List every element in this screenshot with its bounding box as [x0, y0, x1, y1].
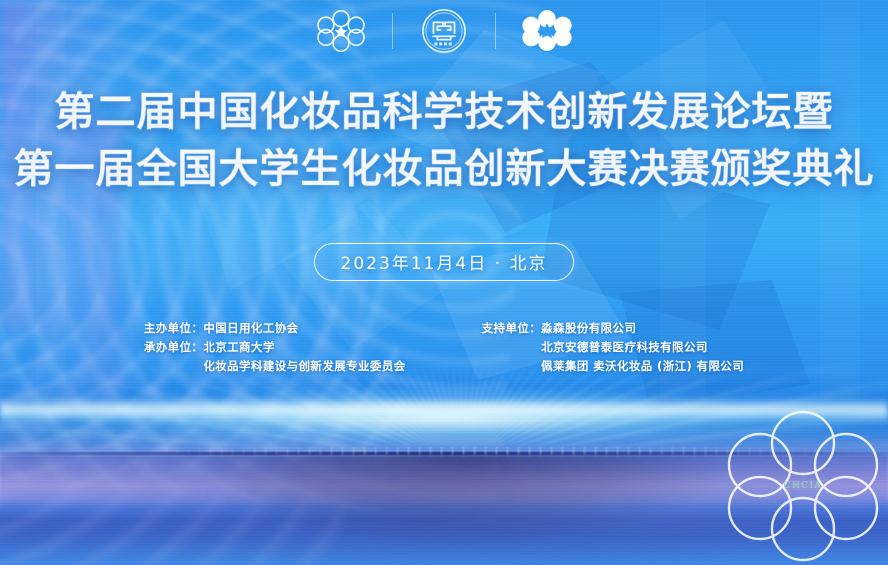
- chcia-watermark-label: CHCIA: [724, 481, 882, 491]
- logo-divider: [495, 13, 496, 49]
- event-title-line-2: 第一届全国大学生化妆品创新大赛决赛颁奖典礼: [0, 149, 888, 189]
- credit-value: 淼森股份有限公司: [541, 322, 636, 335]
- credit-value: 佩莱集团 卖沃化妆品 (浙江) 有限公司: [541, 360, 744, 373]
- credit-value: 北京工商大学: [203, 341, 274, 354]
- credit-label: 支持单位：: [482, 322, 542, 335]
- credit-row: 主办单位： 中国日用化工协会: [144, 322, 406, 335]
- chcia-watermark-icon: CHCIA: [724, 407, 882, 565]
- credit-label: 主办单位：: [144, 322, 204, 335]
- organizer-credits: 主办单位： 中国日用化工协会 承办单位： 北京工商大学 承办单位： 化妆品学科建…: [0, 322, 888, 374]
- chcia-flower-logo: [303, 7, 379, 55]
- organizer-credits-right: 支持单位： 淼森股份有限公司 支持单位： 北京安德普泰医疗科技有限公司 支持单位…: [482, 322, 745, 374]
- event-title-line-1: 第二届中国化妆品科学技术创新发展论坛暨: [0, 92, 888, 132]
- petal-solid-logo: [509, 7, 585, 55]
- logo-strip: [0, 6, 888, 56]
- organizer-credits-left: 主办单位： 中国日用化工协会 承办单位： 北京工商大学 承办单位： 化妆品学科建…: [144, 322, 406, 374]
- credit-label: 承办单位：: [144, 341, 204, 354]
- event-date-location-badge: 2023年11月4日 · 北京: [314, 243, 575, 281]
- credit-row: 承办单位： 化妆品学科建设与创新发展专业委员会: [144, 360, 406, 373]
- credit-row: 支持单位： 北京安德普泰医疗科技有限公司: [482, 341, 745, 354]
- credit-row: 支持单位： 佩莱集团 卖沃化妆品 (浙江) 有限公司: [482, 360, 745, 373]
- event-title: 第二届中国化妆品科学技术创新发展论坛暨 第一届全国大学生化妆品创新大赛决赛颁奖典…: [0, 92, 888, 189]
- btbu-seal-logo: [406, 7, 482, 55]
- credit-row: 支持单位： 淼森股份有限公司: [482, 322, 745, 335]
- event-banner-screen: 第二届中国化妆品科学技术创新发展论坛暨 第一届全国大学生化妆品创新大赛决赛颁奖典…: [0, 0, 888, 565]
- logo-divider: [392, 13, 393, 49]
- credit-row: 承办单位： 北京工商大学: [144, 341, 406, 354]
- credit-value: 北京安德普泰医疗科技有限公司: [541, 341, 708, 354]
- credit-value: 化妆品学科建设与创新发展专业委员会: [203, 360, 405, 373]
- credit-value: 中国日用化工协会: [203, 322, 298, 335]
